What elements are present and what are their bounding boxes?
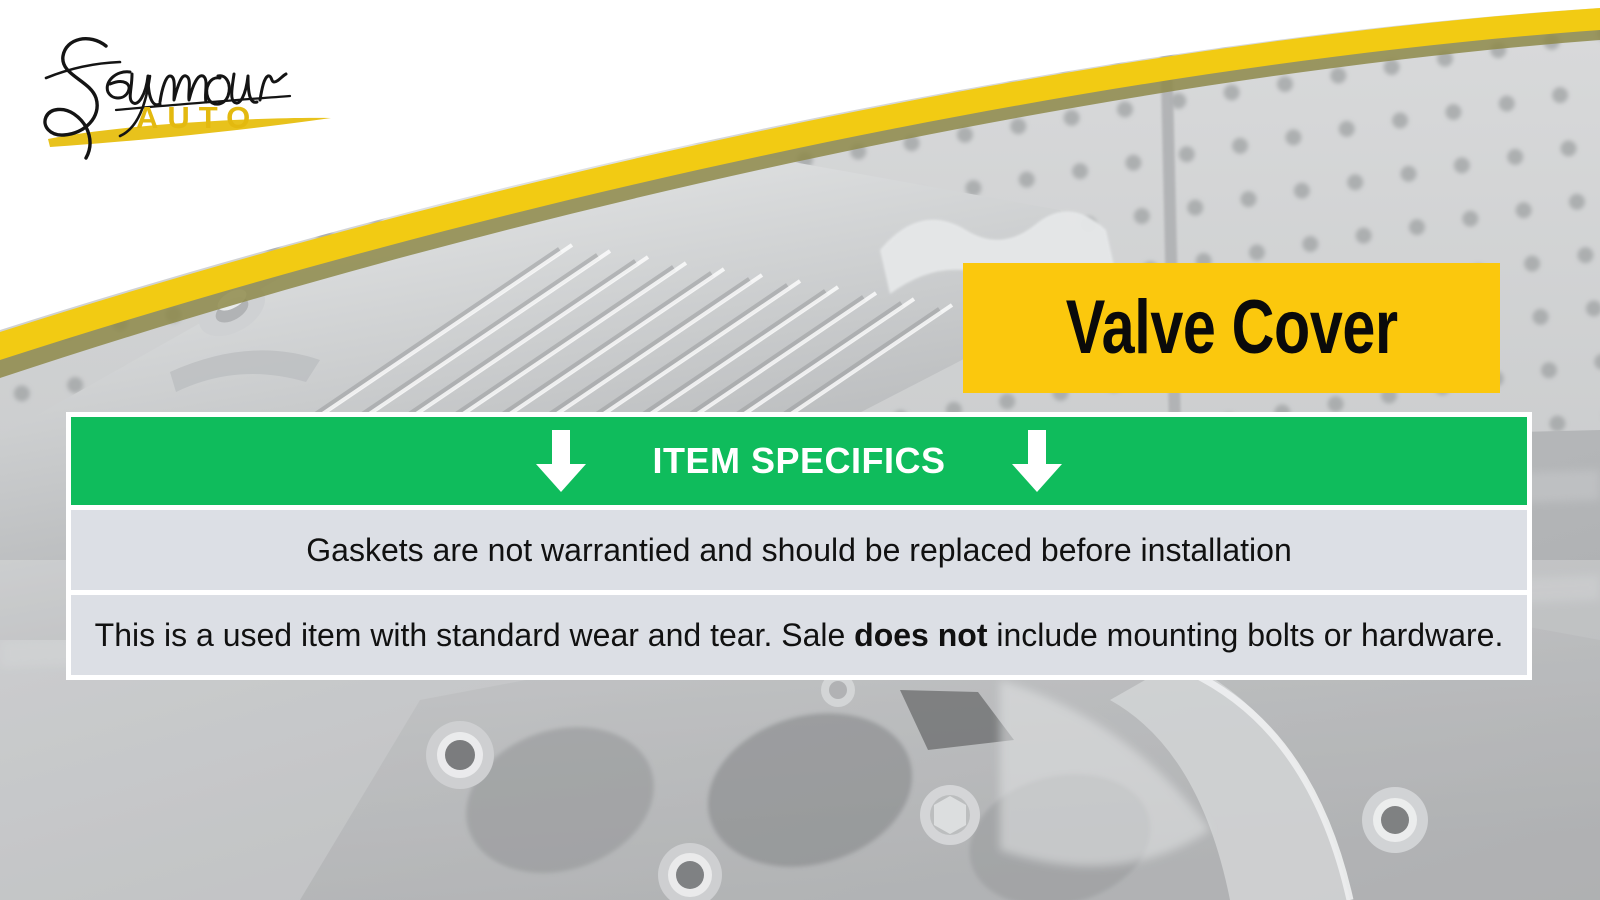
condition-prefix: This is a used item with standard wear a…	[95, 617, 855, 653]
condition-emphasis: does not	[854, 617, 987, 653]
spec-row-condition: This is a used item with standard wear a…	[71, 595, 1527, 675]
item-specifics-header: ITEM SPECIFICS	[71, 417, 1527, 505]
svg-text:AUTO: AUTO	[136, 100, 259, 135]
brand-logo[interactable]: AUTO	[28, 18, 338, 168]
arrow-down-icon-right	[1010, 430, 1064, 492]
item-specifics-label: ITEM SPECIFICS	[652, 440, 945, 482]
spec-row-gaskets: Gaskets are not warrantied and should be…	[71, 510, 1527, 590]
arrow-down-icon-left	[534, 430, 588, 492]
spec-row-condition-text: This is a used item with standard wear a…	[95, 617, 1504, 654]
page-title: Valve Cover	[1066, 290, 1398, 366]
item-specifics-panel: ITEM SPECIFICS Gaskets are not warrantie…	[66, 412, 1532, 680]
condition-suffix: include mounting bolts or hardware.	[987, 617, 1503, 653]
promo-banner: AUTO Valve Cover ITEM SPECIFICS Gaskets …	[0, 0, 1600, 900]
product-title-banner: Valve Cover	[963, 263, 1500, 393]
spec-row-gaskets-text: Gaskets are not warrantied and should be…	[306, 532, 1292, 569]
